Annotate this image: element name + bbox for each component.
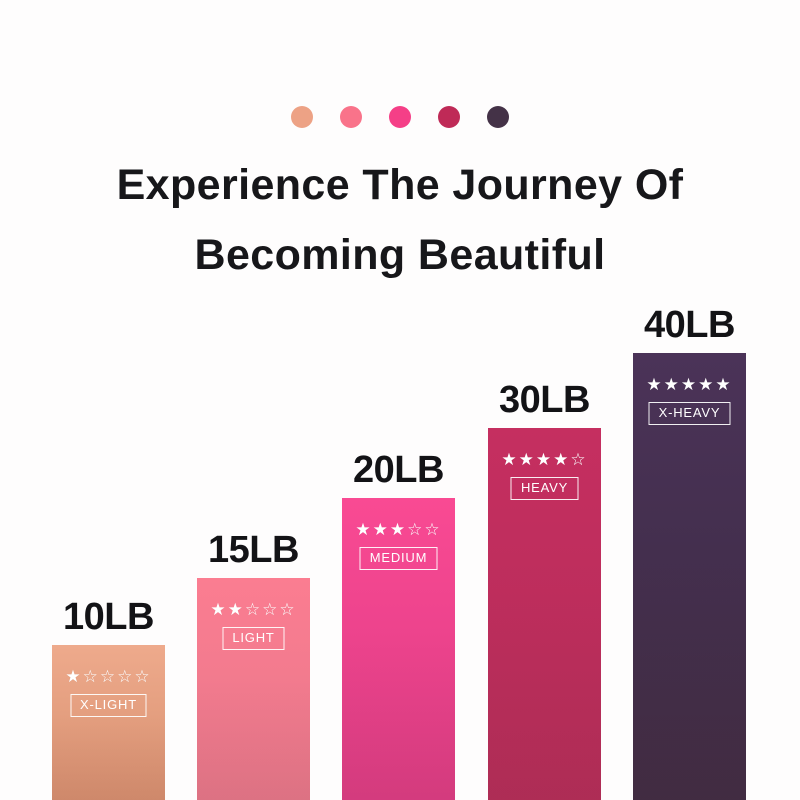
bar-30lb-badge: ★★★★☆HEAVY [488, 450, 601, 500]
bar-40lb-caption: 40LB [644, 304, 735, 347]
bar-15lb-star-rating: ★★☆☆☆ [210, 600, 296, 620]
bar-40lb-body: ★★★★★X-HEAVY [633, 353, 746, 800]
bar-20lb-badge: ★★★☆☆MEDIUM [342, 520, 455, 570]
bar-15lb-body: ★★☆☆☆LIGHT [197, 578, 310, 800]
bar-30lb-caption: 30LB [499, 379, 590, 422]
bar-20lb-level-label: MEDIUM [360, 547, 438, 570]
bar-40lb-badge: ★★★★★X-HEAVY [633, 375, 746, 425]
product-infographic: Experience The Journey Of Becoming Beaut… [0, 0, 800, 800]
bar-40lb-level-label: X-HEAVY [649, 402, 731, 425]
bar-40lb-star-rating: ★★★★★ [646, 375, 732, 395]
bar-15lb-caption: 15LB [208, 529, 299, 572]
bar-20lb-body: ★★★☆☆MEDIUM [342, 498, 455, 800]
bar-15lb[interactable]: 15LB★★☆☆☆LIGHT [197, 578, 310, 800]
bar-10lb-caption: 10LB [63, 596, 154, 639]
bar-40lb[interactable]: 40LB★★★★★X-HEAVY [633, 353, 746, 800]
bar-20lb-star-rating: ★★★☆☆ [355, 520, 441, 540]
bar-30lb-star-rating: ★★★★☆ [501, 450, 587, 470]
bar-20lb[interactable]: 20LB★★★☆☆MEDIUM [342, 498, 455, 800]
bar-30lb-body: ★★★★☆HEAVY [488, 428, 601, 800]
bar-15lb-level-label: LIGHT [222, 627, 284, 650]
bar-30lb-level-label: HEAVY [511, 477, 578, 500]
bar-10lb-level-label: X-LIGHT [70, 694, 147, 717]
bar-10lb[interactable]: 10LB★☆☆☆☆X-LIGHT [52, 645, 165, 800]
bar-30lb[interactable]: 30LB★★★★☆HEAVY [488, 428, 601, 800]
bar-10lb-badge: ★☆☆☆☆X-LIGHT [52, 667, 165, 717]
bar-15lb-badge: ★★☆☆☆LIGHT [197, 600, 310, 650]
bar-10lb-star-rating: ★☆☆☆☆ [65, 667, 151, 687]
resistance-band-bar-chart: 10LB★☆☆☆☆X-LIGHT15LB★★☆☆☆LIGHT20LB★★★☆☆M… [0, 0, 800, 800]
bar-20lb-caption: 20LB [353, 449, 444, 492]
bar-10lb-body: ★☆☆☆☆X-LIGHT [52, 645, 165, 800]
